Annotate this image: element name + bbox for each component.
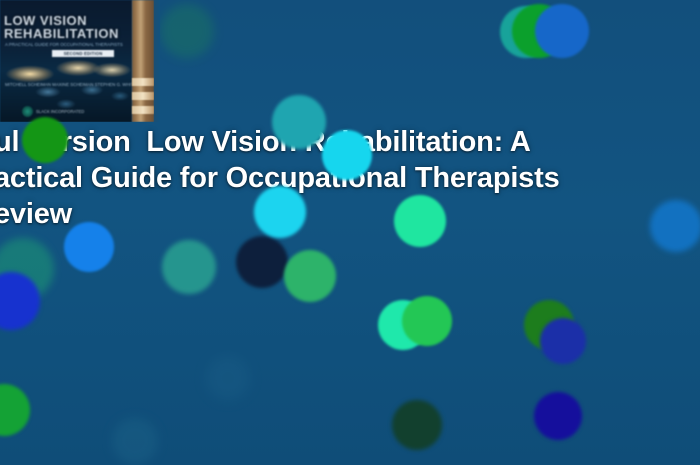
dot-dim-lowleft xyxy=(112,418,158,464)
dot-navy-dark xyxy=(236,236,288,288)
dot-royalblue-right xyxy=(540,318,586,364)
thumbnail-canvas: LOW VISION REHABILITATION A PRACTICAL GU… xyxy=(0,0,700,465)
dot-navy-bottom xyxy=(534,392,582,440)
book-cover-publisher: SLACK INCORPORATED xyxy=(36,109,84,114)
book-spine-band-upper xyxy=(132,78,154,86)
dot-darkgreen-top xyxy=(160,4,214,58)
dot-blue-topright xyxy=(535,4,589,58)
dot-blue-right-edge xyxy=(650,200,700,252)
book-cover-authors: MITCHELL SCHEIMAN MAXINE SCHEIMAN STEPHE… xyxy=(5,82,148,88)
dot-teal-mid-top xyxy=(272,95,326,149)
book-cover-edge xyxy=(154,0,160,122)
book-spine-band-mid xyxy=(132,92,154,100)
dot-forest-bottom xyxy=(392,400,442,450)
book-cover-subtitle: A PRACTICAL GUIDE FOR OCCUPATIONAL THERA… xyxy=(5,42,125,47)
dot-green-headline xyxy=(22,117,68,163)
book-cover-title: LOW VISION REHABILITATION xyxy=(4,14,128,40)
dot-green-mid xyxy=(284,250,336,302)
book-spine-band-lower xyxy=(132,106,154,114)
book-cover-thumbnail: LOW VISION REHABILITATION A PRACTICAL GU… xyxy=(0,0,160,122)
dot-green-pair-b xyxy=(402,296,452,346)
dot-cyan-center xyxy=(322,130,372,180)
dot-teal-mid xyxy=(162,240,216,294)
publisher-mark-icon xyxy=(22,106,33,117)
book-spine xyxy=(132,0,154,122)
book-cover-edition-badge: SECOND EDITION xyxy=(52,50,114,57)
dot-dim-mid xyxy=(206,356,250,400)
book-cover-edition-text: SECOND EDITION xyxy=(52,50,114,57)
dot-cyan-lower xyxy=(254,186,306,238)
